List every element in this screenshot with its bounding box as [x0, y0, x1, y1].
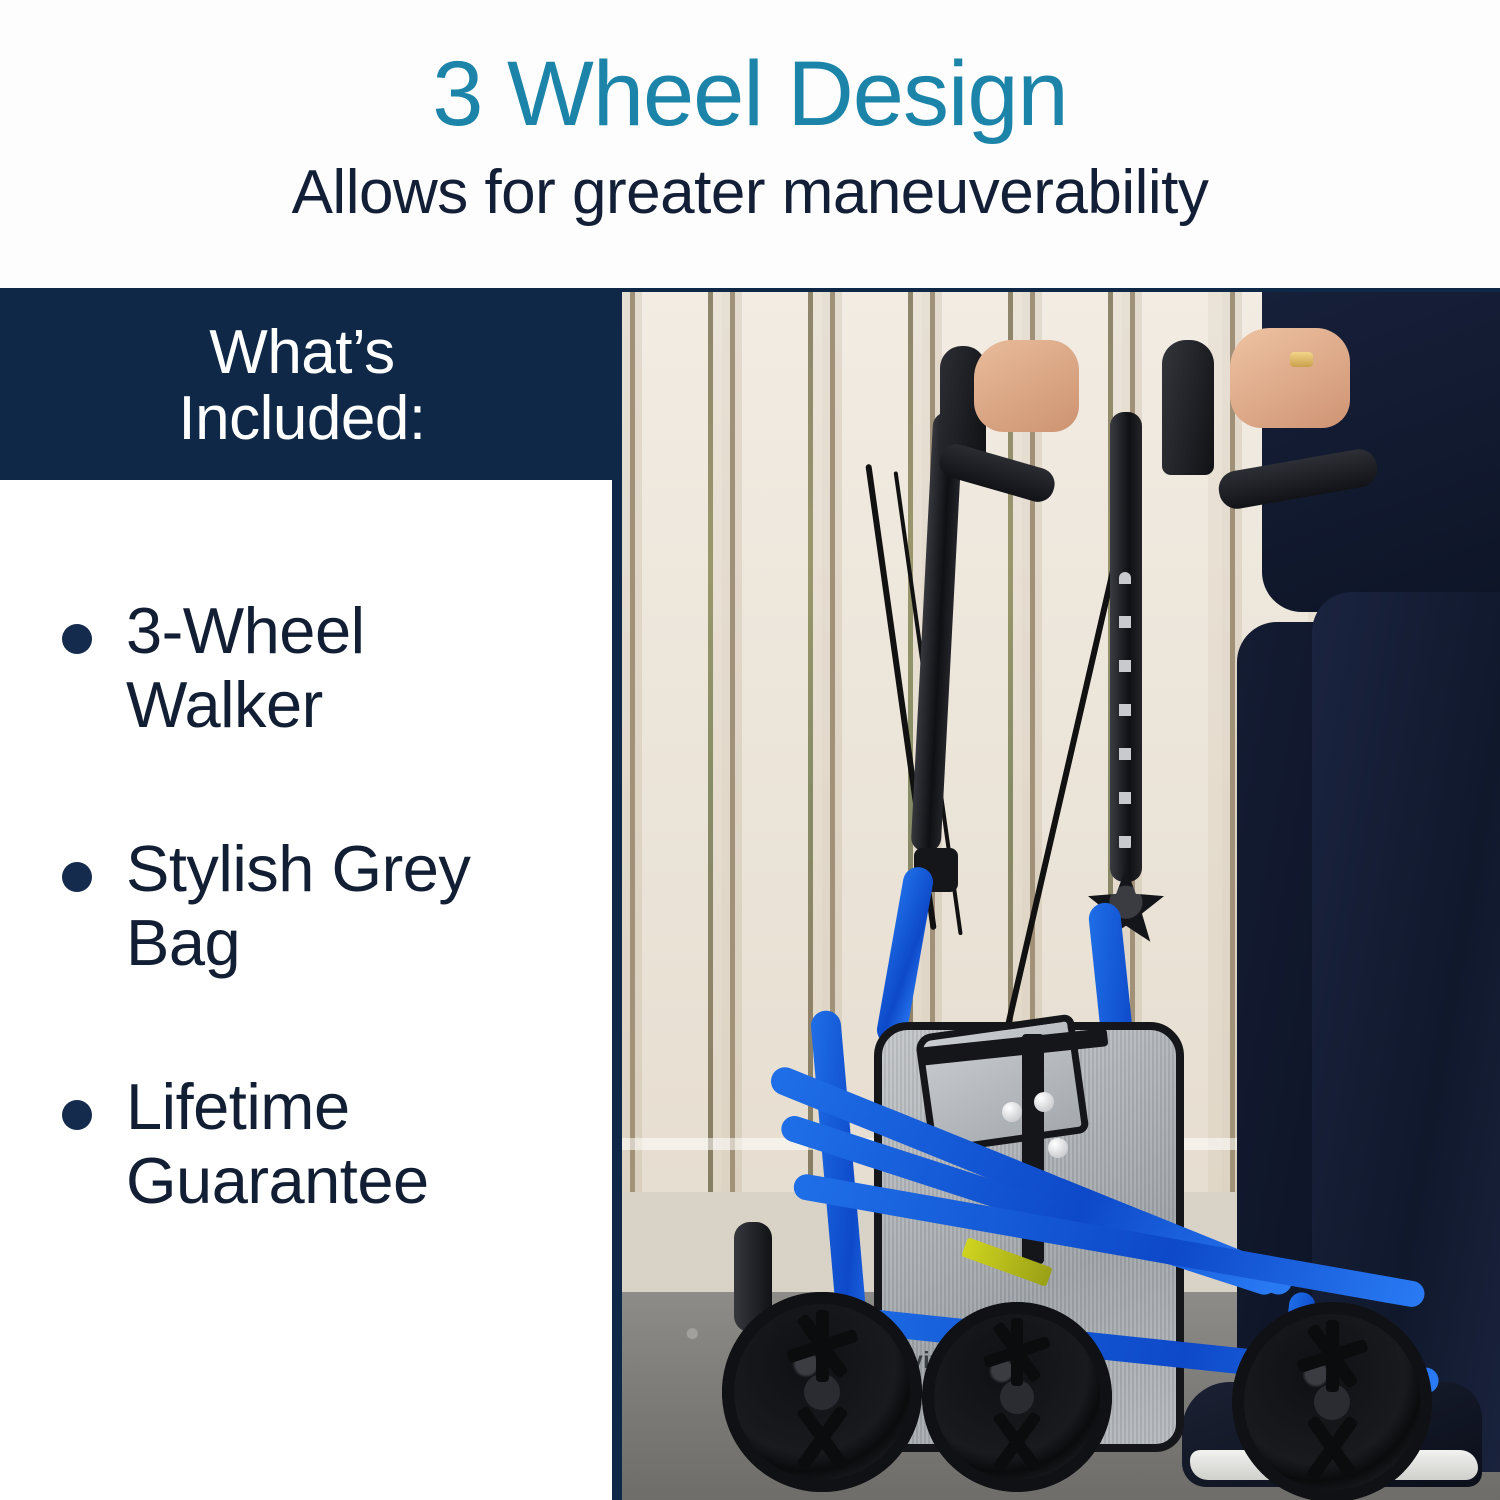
bag-stud	[1048, 1138, 1068, 1158]
page-subtitle: Allows for greater maneuverability	[292, 162, 1209, 224]
bullet-dot-icon	[62, 862, 92, 892]
bullet-dot-icon	[62, 1100, 92, 1130]
whats-included-line-2: Included:	[178, 386, 425, 452]
list-item: Lifetime Guarantee	[0, 1070, 612, 1218]
person-right-hand	[1230, 328, 1350, 428]
walker-right-handle	[1162, 340, 1214, 475]
panel-divider	[612, 480, 622, 1500]
list-item: 3-Wheel Walker	[0, 594, 612, 742]
product-infographic: 3 Wheel Design Allows for greater maneuv…	[0, 0, 1500, 1500]
person-left-hand	[974, 340, 1079, 432]
product-photo: vive	[622, 292, 1500, 1500]
feature-label: Lifetime Guarantee	[126, 1070, 556, 1218]
wheel-middle	[922, 1302, 1112, 1492]
feature-label: Stylish Grey Bag	[126, 832, 556, 980]
header-banner: 3 Wheel Design Allows for greater maneuv…	[0, 0, 1500, 292]
bag-stud	[1002, 1102, 1022, 1122]
left-panel: What’s Included: 3-Wheel Walker Stylish …	[0, 292, 622, 1500]
wheel-front	[722, 1292, 922, 1492]
page-title: 3 Wheel Design	[432, 48, 1067, 140]
features-list: 3-Wheel Walker Stylish Grey Bag Lifetime…	[0, 594, 612, 1219]
list-item: Stylish Grey Bag	[0, 832, 612, 980]
whats-included-line-1: What’s	[178, 320, 425, 386]
whats-included-title: What’s Included:	[178, 320, 443, 451]
ring-icon	[1290, 352, 1313, 367]
wheel-rear	[1232, 1302, 1432, 1500]
feature-label: 3-Wheel Walker	[126, 594, 556, 742]
height-adjust-holes	[1119, 572, 1131, 852]
whats-included-header: What’s Included:	[0, 292, 622, 480]
bullet-dot-icon	[62, 624, 92, 654]
bag-stud	[1034, 1092, 1054, 1112]
